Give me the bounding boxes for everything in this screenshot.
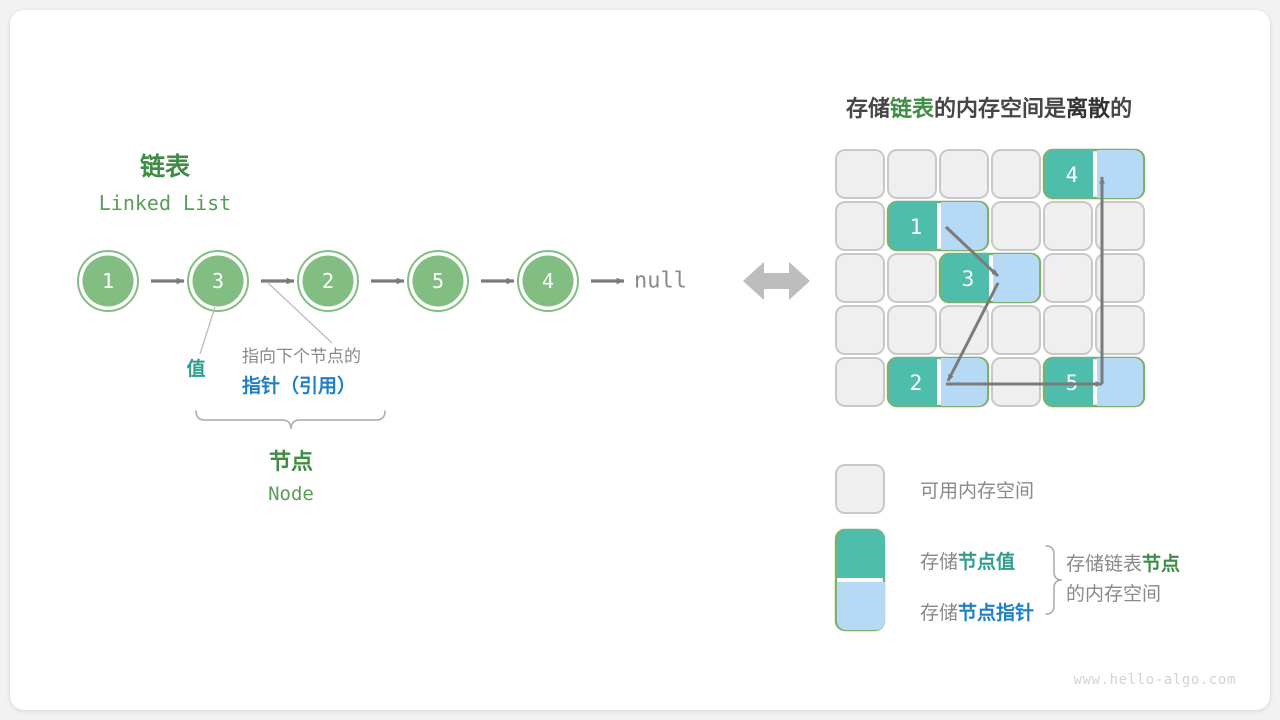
memory-cell-empty [992, 202, 1040, 250]
memory-cell-empty [836, 306, 884, 354]
legend-group-note-line1: 存储链表节点 [1066, 550, 1180, 580]
list-node: 3 [188, 251, 248, 311]
memory-node-pointer-cell [993, 254, 1039, 302]
linked-list-title-cn: 链表 [140, 152, 191, 181]
node-value: 5 [432, 269, 444, 293]
legend-value-prefix: 存储 [920, 552, 958, 573]
memory-node-value: 4 [1066, 163, 1079, 187]
memory-cell-empty [836, 254, 884, 302]
legend-group-note-line2: 的内存空间 [1066, 580, 1180, 610]
node-value: 2 [322, 269, 334, 293]
memory-node-value: 2 [910, 371, 923, 395]
memory-cell-empty [1044, 254, 1092, 302]
memory-node-pointer-cell [1097, 150, 1143, 198]
node-value: 3 [212, 269, 224, 293]
legend-pointer-emphasis: 节点指针 [958, 603, 1034, 624]
memory-cell-empty [888, 254, 936, 302]
list-node: 4 [518, 251, 578, 311]
memory-cell-empty [940, 150, 988, 198]
memory-cell-empty [888, 306, 936, 354]
pointer-callout-line2: 指针（引用） [242, 374, 356, 397]
value-callout-label: 值 [186, 357, 205, 380]
legend-pointer-label: 存储节点指针 [920, 598, 1034, 625]
legend-value-emphasis: 节点值 [958, 552, 1015, 573]
node-value: 4 [542, 269, 554, 293]
double-arrow-icon [743, 262, 810, 300]
legend-group-note: 存储链表节点 的内存空间 [1066, 550, 1180, 610]
legend-group-note-emphasis: 节点 [1142, 554, 1180, 575]
memory-cell-empty [1044, 306, 1092, 354]
memory-cell-empty [992, 358, 1040, 406]
title-part-linkedlist: 链表 [890, 96, 934, 121]
list-node: 5 [408, 251, 468, 311]
memory-node-pointer-cell [941, 358, 987, 406]
title-part-prefix: 存储 [846, 96, 890, 121]
legend-value-swatch [837, 530, 885, 578]
memory-cell-empty [836, 150, 884, 198]
list-node: 2 [298, 251, 358, 311]
legend-node-swatch [836, 530, 885, 630]
legend-value-label: 存储节点值 [920, 547, 1015, 574]
memory-node: 1 [888, 202, 988, 250]
pointer-callout-line1: 指向下个节点的 [242, 347, 361, 366]
title-part-middle: 的内存空间是 [934, 96, 1066, 121]
memory-cell-empty [1044, 202, 1092, 250]
legend-group-brace [1046, 546, 1062, 614]
memory-node-pointer-cell [1097, 358, 1143, 406]
memory-cell-empty [836, 358, 884, 406]
legend-group-note-prefix: 存储链表 [1066, 554, 1142, 575]
value-leader-line [200, 307, 215, 354]
memory-cell-empty [992, 306, 1040, 354]
title-part-suffix: 的 [1110, 96, 1132, 121]
legend-free-swatch [836, 465, 884, 513]
legend-free-label-text: 可用内存空间 [920, 481, 1034, 502]
diagram-card: 链表 Linked List 1 3 2 [10, 10, 1270, 710]
memory-node: 5 [1044, 358, 1144, 406]
memory-cell-empty [836, 202, 884, 250]
memory-node-value: 1 [910, 215, 923, 239]
null-terminator: null [634, 269, 687, 294]
legend-pointer-prefix: 存储 [920, 603, 958, 624]
node-brace [196, 411, 385, 429]
memory-node: 2 [888, 358, 988, 406]
node-brace-label-cn: 节点 [269, 449, 313, 474]
memory-cell-empty [888, 150, 936, 198]
watermark: www.hello-algo.com [1073, 672, 1236, 688]
node-value: 1 [102, 269, 114, 293]
node-brace-label-en: Node [268, 483, 314, 505]
memory-panel-title: 存储链表的内存空间是离散的 [846, 94, 1132, 124]
memory-node: 4 [1044, 150, 1144, 198]
list-node: 1 [78, 251, 138, 311]
legend-pointer-swatch [837, 582, 885, 630]
memory-node-value: 3 [962, 267, 975, 291]
title-part-discrete: 离散 [1066, 96, 1110, 121]
memory-cell-empty [992, 150, 1040, 198]
linked-list-title-en: Linked List [99, 191, 231, 215]
legend-free-label: 可用内存空间 [920, 476, 1034, 503]
memory-node: 3 [940, 254, 1040, 302]
